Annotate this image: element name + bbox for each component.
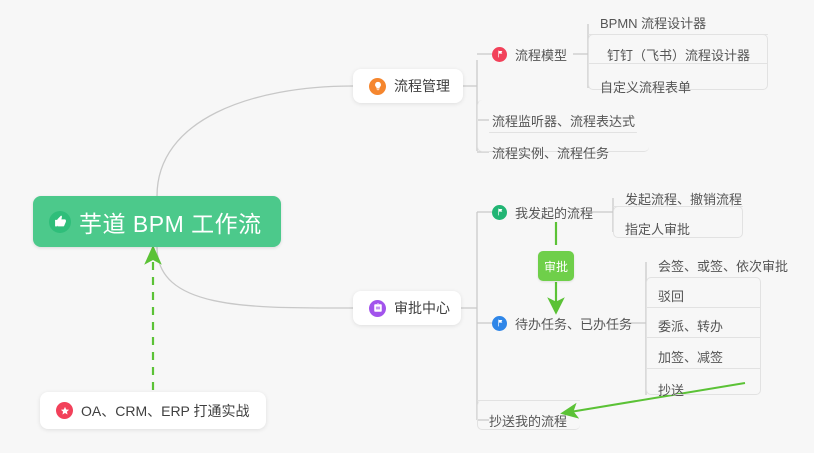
subnode-process-model[interactable]: 流程模型 bbox=[492, 44, 567, 64]
leaf-label: 加签、减签 bbox=[658, 347, 723, 366]
leaf-bpmn-designer[interactable]: BPMN 流程设计器 bbox=[600, 12, 706, 32]
leaf-label: 驳回 bbox=[658, 286, 684, 305]
subnode-label-my-initiated: 我发起的流程 bbox=[515, 203, 593, 222]
subnode-label-process-model: 流程模型 bbox=[515, 45, 567, 64]
group-box-pm-leaf-1 bbox=[489, 132, 637, 133]
leaf-label: 指定人审批 bbox=[625, 219, 690, 238]
leaf-assigned-approver[interactable]: 指定人审批 bbox=[625, 218, 690, 238]
leaf-label: 流程实例、流程任务 bbox=[492, 143, 609, 162]
leaf-add-remove-sign[interactable]: 加签、减签 bbox=[658, 346, 723, 366]
flag-icon bbox=[492, 47, 507, 62]
group-box-todo-div-1 bbox=[646, 307, 761, 308]
mindmap-canvas: 芋道 BPM 工作流 流程管理 流程模型 BPMN 流程设计器 钉钉（飞书）流程… bbox=[0, 0, 814, 453]
root-label: 芋道 BPM 工作流 bbox=[79, 205, 262, 239]
leaf-process-listener[interactable]: 流程监听器、流程表达式 bbox=[492, 110, 635, 130]
lightbulb-icon bbox=[369, 78, 386, 95]
leaf-label: 抄送我的流程 bbox=[489, 411, 567, 430]
leaf-countersign[interactable]: 会签、或签、依次审批 bbox=[658, 255, 788, 275]
approval-tag-label: 审批 bbox=[544, 258, 568, 275]
flag-icon bbox=[492, 316, 507, 331]
clipboard-icon bbox=[369, 300, 386, 317]
leaf-reject[interactable]: 驳回 bbox=[658, 285, 684, 305]
flag-icon bbox=[492, 205, 507, 220]
integration-node-label: OA、CRM、ERP 打通实战 bbox=[81, 401, 250, 421]
leaf-delegate-transfer[interactable]: 委派、转办 bbox=[658, 315, 723, 335]
leaf-label: BPMN 流程设计器 bbox=[600, 13, 706, 32]
integration-node[interactable]: OA、CRM、ERP 打通实战 bbox=[40, 392, 266, 429]
link-root-to-process-management bbox=[157, 86, 353, 196]
group-box-todo-div-2 bbox=[646, 337, 761, 338]
leaf-cc[interactable]: 抄送 bbox=[658, 379, 684, 399]
leaf-process-instance[interactable]: 流程实例、流程任务 bbox=[492, 142, 609, 162]
leaf-label: 钉钉（飞书）流程设计器 bbox=[607, 45, 750, 64]
subnode-label-todo-done-tasks: 待办任务、已办任务 bbox=[515, 314, 632, 333]
leaf-label: 发起流程、撤销流程 bbox=[625, 189, 742, 208]
leaf-cc-to-me[interactable]: 抄送我的流程 bbox=[489, 410, 567, 430]
thumbs-up-icon bbox=[49, 211, 71, 233]
leaf-start-cancel-process[interactable]: 发起流程、撤销流程 bbox=[625, 188, 742, 208]
leaf-label: 委派、转办 bbox=[658, 316, 723, 335]
approval-tag: 审批 bbox=[538, 251, 574, 281]
root-node[interactable]: 芋道 BPM 工作流 bbox=[33, 196, 281, 247]
group-box-todo-div-3 bbox=[646, 368, 761, 369]
leaf-label: 抄送 bbox=[658, 380, 684, 399]
star-icon bbox=[56, 402, 73, 419]
subnode-todo-done-tasks[interactable]: 待办任务、已办任务 bbox=[492, 313, 632, 333]
group-box-cc-top bbox=[477, 400, 580, 401]
group-box-pmodel-top bbox=[588, 34, 768, 35]
subnode-my-initiated[interactable]: 我发起的流程 bbox=[492, 202, 593, 222]
leaf-dingtalk-designer[interactable]: 钉钉（飞书）流程设计器 bbox=[607, 44, 750, 64]
branch-label-approval-center: 审批中心 bbox=[394, 298, 450, 318]
leaf-label: 自定义流程表单 bbox=[600, 77, 691, 96]
branch-node-process-management[interactable]: 流程管理 bbox=[353, 69, 463, 103]
leaf-label: 会签、或签、依次审批 bbox=[658, 256, 788, 275]
leaf-custom-form[interactable]: 自定义流程表单 bbox=[600, 76, 691, 96]
branch-node-approval-center[interactable]: 审批中心 bbox=[353, 291, 461, 325]
link-root-to-approval-center bbox=[157, 247, 353, 308]
branch-label-process-management: 流程管理 bbox=[394, 76, 450, 96]
leaf-label: 流程监听器、流程表达式 bbox=[492, 111, 635, 130]
